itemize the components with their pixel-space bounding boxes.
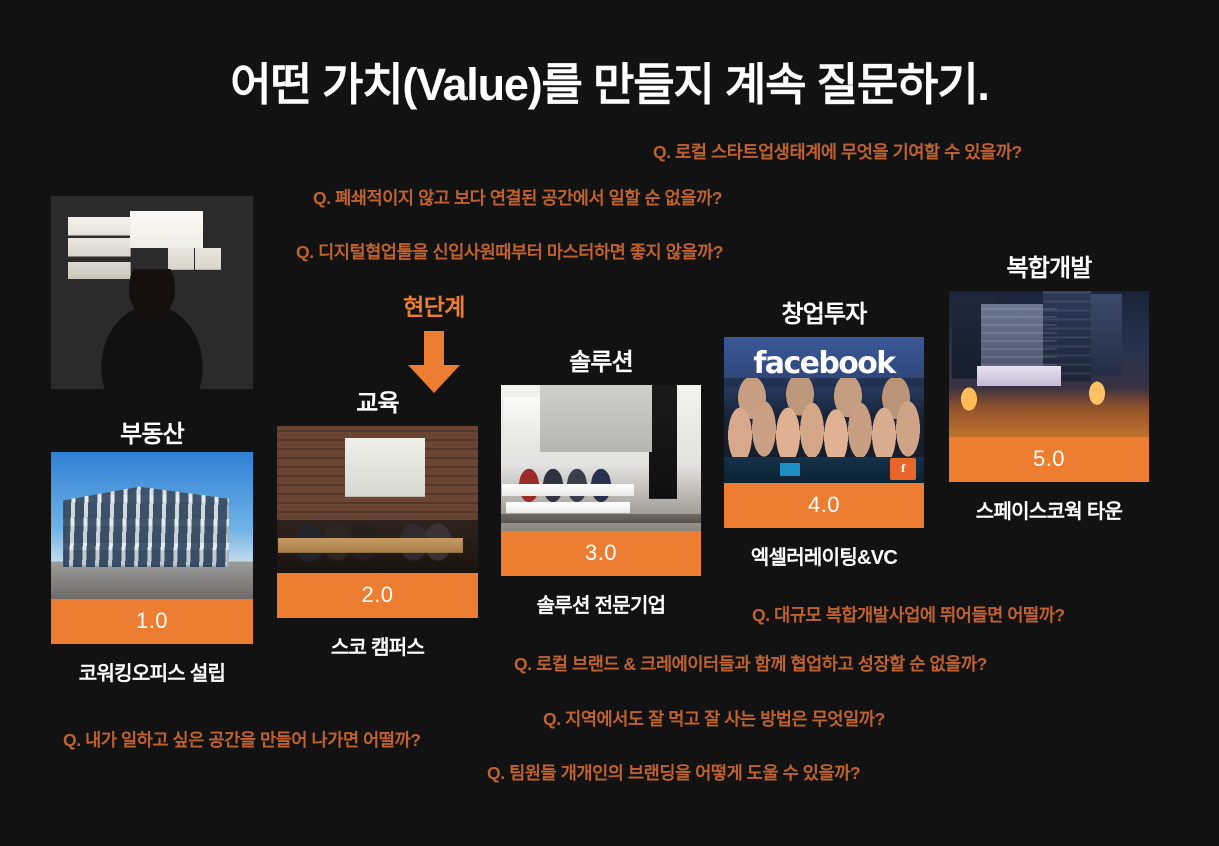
stage-title-5: 복합개발 xyxy=(949,248,1149,283)
question-bottom-5: Q. 내가 일하고 싶은 공간을 만들어 나가면 어떨까? xyxy=(63,727,421,752)
facebook-ipo-scene: facebook f xyxy=(724,337,924,483)
office-building-scene xyxy=(51,452,253,599)
page-title: 어떤 가치(Value)를 만들지 계속 질문하기. xyxy=(0,48,1219,113)
question-bottom-4: Q. 팀원들 개개인의 브랜딩을 어떻게 도울 수 있을까? xyxy=(487,760,860,785)
campus-classroom-photo xyxy=(277,426,478,573)
stage-card-4[interactable]: 창업투자 facebook f 4.0 엑셀러레이팅&VC xyxy=(724,294,924,570)
seminar-room-scene xyxy=(501,385,701,531)
question-bottom-1: Q. 대규모 복합개발사업에 뛰어들면 어떨까? xyxy=(752,602,1065,627)
solution-seminar-room-photo xyxy=(501,385,701,531)
stage-caption-3: 솔루션 전문기업 xyxy=(501,589,701,618)
crowd-shape xyxy=(724,378,924,460)
question-top-2: Q. 폐쇄적이지 않고 보다 연결된 공간에서 일할 순 없을까? xyxy=(313,185,722,210)
mixed-use-night-city-photo xyxy=(949,291,1149,437)
night-city-scene xyxy=(949,291,1149,437)
stage-value-4: 4.0 xyxy=(724,483,924,528)
stage-title-4: 창업투자 xyxy=(724,294,924,329)
stage-card-2[interactable]: 교육 2.0 스코 캠퍼스 xyxy=(277,383,478,660)
facebook-badge-icon: f xyxy=(890,458,916,480)
stage-card-1[interactable]: 1.0 코워킹오피스 설립 xyxy=(51,452,253,686)
current-stage-label: 현단계 xyxy=(375,288,493,322)
stage-caption-1: 코워킹오피스 설립 xyxy=(51,657,253,686)
coworking-office-building-photo xyxy=(51,452,253,599)
question-top-3: Q. 디지털협업툴을 신입사원때부터 마스터하면 좋지 않을까? xyxy=(296,239,723,264)
facebook-nasdaq-ipo-photo: facebook f xyxy=(724,337,924,483)
facebook-wordmark: facebook xyxy=(753,346,894,381)
stage-card-3[interactable]: 솔루션 3.0 솔루션 전문기업 xyxy=(501,342,701,618)
question-bottom-2: Q. 로컬 브랜드 & 크레에이터들과 함께 협업하고 성장할 순 없을까? xyxy=(514,651,987,676)
stage-title-2: 교육 xyxy=(277,383,478,418)
stage-value-1: 1.0 xyxy=(51,599,253,644)
stage-title-3: 솔루션 xyxy=(501,342,701,377)
stage-value-5: 5.0 xyxy=(949,437,1149,482)
current-stage-marker: 현단계 xyxy=(375,288,493,398)
classroom-scene xyxy=(277,426,478,573)
shirt-logo-text: SPACE CO-WORK xyxy=(115,332,190,339)
stage-caption-5: 스페이스코웍 타운 xyxy=(949,495,1149,524)
stage-caption-4: 엑셀러레이팅&VC xyxy=(724,541,924,570)
question-bottom-3: Q. 지역에서도 잘 먹고 잘 사는 방법은 무엇일까? xyxy=(543,706,885,731)
stage-card-5[interactable]: 복합개발 5.0 스페이스코웍 타운 xyxy=(949,248,1149,524)
space-co-work-pinboard-photo: SPACE CO-WORK xyxy=(51,196,253,389)
question-top-1: Q. 로컬 스타트업생태계에 무엇을 기여할 수 있을까? xyxy=(653,139,1022,164)
hero-title: 부동산 xyxy=(51,414,253,449)
slide-canvas: 어떤 가치(Value)를 만들지 계속 질문하기. Q. 로컬 스타트업생태계… xyxy=(0,0,1219,846)
stage-value-3: 3.0 xyxy=(501,531,701,576)
stage-caption-2: 스코 캠퍼스 xyxy=(277,631,478,660)
stage-value-2: 2.0 xyxy=(277,573,478,618)
